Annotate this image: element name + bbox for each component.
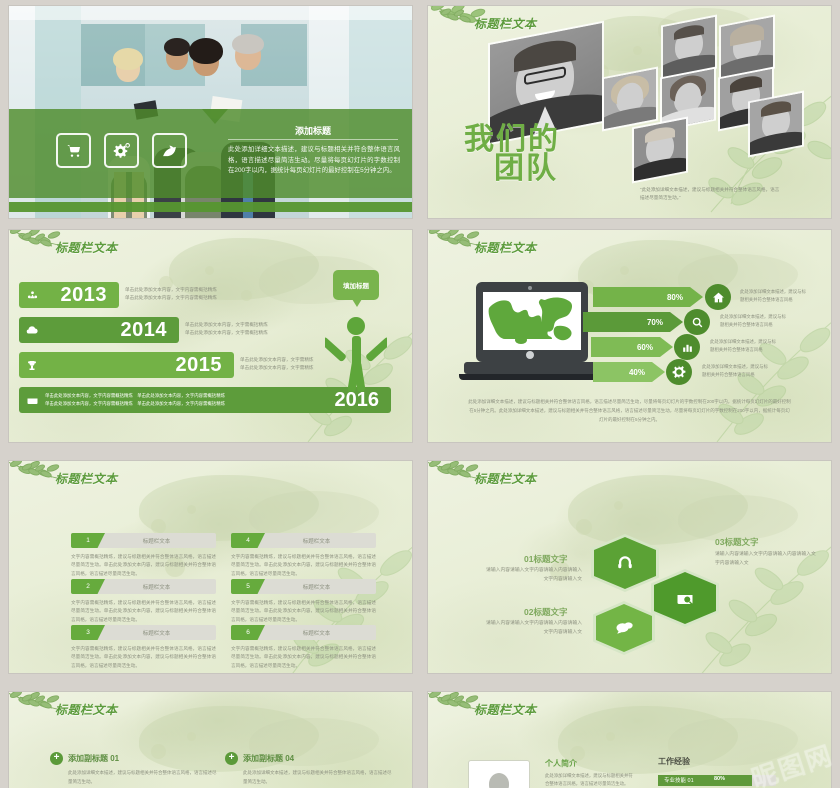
slide-header-title: 标题栏文本 bbox=[474, 239, 537, 256]
skill-label: 专业技能 01 bbox=[664, 776, 694, 784]
slide-profile[interactable]: 标题栏文本 个人简介 此处添加详细文本描述，建议与标题相关并符合整体语言风格，语… bbox=[428, 692, 831, 788]
timeline-row-2016[interactable]: 单击此处添加文本内容，文字内容需概括精炼 单击此处添加文本内容，文字内容需概括精… bbox=[19, 387, 391, 413]
bar-note-80: 此处添加详细文本描述，建议与标题相关并符合整体语言风格 bbox=[740, 288, 808, 304]
calendar-icon bbox=[19, 395, 45, 405]
cover-photo: 添加标题 此处添加详细文本描述，建议与标题相关并符合整体语言风格，语言描述尽量简… bbox=[9, 6, 412, 218]
card-title: 标题栏文本 bbox=[105, 583, 216, 591]
list-item[interactable]: 4 标题栏文本 文字内容需概括精炼，建议与标题相关并符合整体语言风格，语言描述尽… bbox=[231, 533, 376, 578]
subtitle-body: 此处添加详细文本描述，建议与标题相关并符合整体语言风格，语言描述尽量简洁生动。 bbox=[243, 769, 393, 786]
card-number: 4 bbox=[231, 533, 265, 548]
slide-header-title: 标题栏文本 bbox=[55, 701, 118, 718]
cover-band-notch bbox=[202, 109, 228, 124]
plus-icon: + bbox=[225, 752, 238, 765]
laptop-footer-text: 此处添加详细文本描述，建议与标题相关并符合整体语言风格，语言描述尽量简洁生动，尽… bbox=[468, 398, 791, 424]
slide-header-title: 标题栏文本 bbox=[474, 15, 537, 32]
timeline-note-2015: 单击此处添加文本内容，文字需精炼 单击此处添加文本内容，文字需精炼 bbox=[240, 356, 340, 373]
timeline-note-2013: 单击此处添加文本内容，文字内容需概括精炼 单击此处添加文本内容，文字内容需概括精… bbox=[125, 286, 250, 303]
hex-title-01: 01标题文字 bbox=[524, 553, 567, 565]
bar-note-40: 此处添加详细文本描述，建议与标题相关并符合整体语言风格 bbox=[702, 363, 770, 379]
slide-timeline[interactable]: 标题栏文本 2013 单击此处添加文本内容，文字内容需概括精炼 单击此处添加文本… bbox=[9, 230, 412, 442]
trophy-icon bbox=[19, 360, 45, 371]
slide-header-title: 标题栏文本 bbox=[55, 239, 118, 256]
subtitle-label: 添加副标题 04 bbox=[243, 753, 294, 764]
timeline-note-2014: 单击此处添加文本内容，文字需概括精炼 单击此处添加文本内容，文字需概括精炼 bbox=[185, 321, 300, 338]
list-item[interactable]: 6 标题栏文本 文字内容需概括精炼，建议与标题相关并符合整体语言风格，语言描述尽… bbox=[231, 625, 376, 670]
profile-heading: 个人简介 bbox=[545, 758, 577, 769]
profile-body: 此处添加详细文本描述，建议与标题相关并符合整体语言风格，语言描述尽量简洁生动。 bbox=[545, 772, 637, 788]
list-item[interactable]: 3 标题栏文本 文字内容需概括精炼，建议与标题相关并符合整体语言风格，语言描述尽… bbox=[71, 625, 216, 670]
card-body: 文字内容需概括精炼，建议与标题相关并符合整体语言风格，语言描述尽量简洁生动。单击… bbox=[71, 599, 216, 624]
slide-header-title: 标题栏文本 bbox=[474, 470, 537, 487]
timeline-row-2013[interactable]: 2013 bbox=[19, 282, 119, 308]
card-number: 3 bbox=[71, 625, 105, 640]
card-title: 标题栏文本 bbox=[265, 537, 376, 545]
list-item[interactable]: 2 标题栏文本 文字内容需概括精炼，建议与标题相关并符合整体语言风格，语言描述尽… bbox=[71, 579, 216, 624]
timeline-bubble[interactable]: 填加标题 bbox=[333, 270, 379, 300]
timeline-note-2016: 单击此处添加文本内容，文字内容需概括精炼 单击此处添加文本内容，文字内容需概括精… bbox=[45, 392, 299, 409]
hex-body-02: 请输入内容请输入文字内容请输入内容请输入文字内容请输入文 bbox=[486, 619, 582, 637]
bar-40[interactable]: 40% bbox=[593, 362, 665, 382]
team-photo-7[interactable] bbox=[634, 119, 686, 181]
slide-team[interactable]: 标题栏文本 bbox=[428, 6, 831, 218]
team-photo-3[interactable] bbox=[721, 17, 773, 77]
slide-header-title: 标题栏文本 bbox=[474, 701, 537, 718]
experience-heading: 工作经验 bbox=[658, 756, 690, 767]
bar-70[interactable]: 70% bbox=[583, 312, 683, 332]
chat-icon bbox=[615, 621, 633, 636]
bar-note-70: 此处添加详细文本描述，建议与标题相关并符合整体语言风格 bbox=[720, 313, 788, 329]
subtitle-row-01[interactable]: + 添加副标题 01 此处添加详细文本描述，建议与标题相关并符合整体语言风格，语… bbox=[50, 752, 218, 786]
browser-search-icon bbox=[676, 590, 694, 606]
timeline-bubble-label: 填加标题 bbox=[343, 280, 369, 290]
timeline-year: 2014 bbox=[45, 319, 179, 342]
chart-icon[interactable] bbox=[674, 334, 700, 360]
template-gallery: 添加标题 此处添加详细文本描述，建议与标题相关并符合整体语言风格，语言描述尽量简… bbox=[0, 0, 840, 788]
team-photo-5[interactable] bbox=[662, 69, 714, 129]
slide-laptop[interactable]: 标题栏文本 80% 70% 60% 40% bbox=[428, 230, 831, 442]
timeline-year: 2016 bbox=[299, 389, 391, 412]
slide-sixlist[interactable]: 标题栏文本 1 标题栏文本 文字内容需概括精炼，建议与标题相关并符合整体语言风格… bbox=[9, 461, 412, 673]
hex-body-01: 请输入内容请输入文字内容请输入内容请输入文字内容请输入文 bbox=[486, 566, 582, 584]
timeline-row-2015[interactable]: 2015 bbox=[19, 352, 234, 378]
bar-note-60: 此处添加详细文本描述，建议与标题相关并符合整体语言风格 bbox=[710, 338, 778, 354]
hex-title-03: 03标题文字 bbox=[715, 536, 758, 548]
people-icon bbox=[19, 290, 45, 301]
team-headline: 我们的 团队 bbox=[464, 126, 560, 183]
cover-title: 添加标题 bbox=[228, 124, 398, 137]
cover-bottom-bar bbox=[9, 202, 412, 212]
cover-title-rule bbox=[228, 139, 398, 140]
timeline-year: 2013 bbox=[45, 284, 119, 307]
bar-pct: 80% bbox=[667, 293, 683, 302]
team-photo-2[interactable] bbox=[663, 17, 715, 77]
slide-subtitles[interactable]: 标题栏文本 + 添加副标题 01 此处添加详细文本描述，建议与标题相关并符合整体… bbox=[9, 692, 412, 788]
team-photo-4[interactable] bbox=[604, 69, 656, 129]
skill-pct: 80% bbox=[714, 776, 725, 782]
team-note: “此处添加详细文本描述，建议与标题相关并符合整体语言风格，语言描述尽量简洁生动。… bbox=[640, 186, 780, 203]
bar-80[interactable]: 80% bbox=[593, 287, 703, 307]
subtitle-label: 添加副标题 01 bbox=[68, 753, 119, 764]
card-body: 文字内容需概括精炼，建议与标题相关并符合整体语言风格，语言描述尽量简洁生动。单击… bbox=[231, 553, 376, 578]
list-item[interactable]: 1 标题栏文本 文字内容需概括精炼，建议与标题相关并符合整体语言风格，语言描述尽… bbox=[71, 533, 216, 578]
bar-pct: 70% bbox=[647, 318, 663, 327]
bar-pct: 40% bbox=[629, 368, 645, 377]
cloud-icon bbox=[19, 325, 45, 335]
skill-bar: 专业技能 01 80% bbox=[658, 775, 776, 786]
team-photo-8[interactable] bbox=[750, 93, 802, 155]
timeline-year: 2015 bbox=[45, 354, 234, 377]
slide-hexagons[interactable]: 标题栏文本 01标题文字 请输入内容请输入文字内容请输入内容请输入文字内容请输入… bbox=[428, 461, 831, 673]
headset-icon bbox=[616, 554, 634, 572]
card-body: 文字内容需概括精炼，建议与标题相关并符合整体语言风格，语言描述尽量简洁生动。单击… bbox=[71, 553, 216, 578]
hex-title-02: 02标题文字 bbox=[524, 606, 567, 618]
card-number: 5 bbox=[231, 579, 265, 594]
card-number: 6 bbox=[231, 625, 265, 640]
bar-pct: 60% bbox=[637, 343, 653, 352]
avatar bbox=[468, 760, 530, 788]
card-title: 标题栏文本 bbox=[105, 537, 216, 545]
card-body: 文字内容需概括精炼，建议与标题相关并符合整体语言风格，语言描述尽量简洁生动。单击… bbox=[231, 645, 376, 670]
hex-body-03: 请输入内容请输入文字内容请输入内容请输入文字内容请输入文 bbox=[715, 550, 820, 568]
card-number: 2 bbox=[71, 579, 105, 594]
plus-icon: + bbox=[50, 752, 63, 765]
bar-60[interactable]: 60% bbox=[591, 337, 673, 357]
leaf-icon[interactable] bbox=[152, 133, 187, 168]
card-body: 文字内容需概括精炼，建议与标题相关并符合整体语言风格，语言描述尽量简洁生动。单击… bbox=[231, 599, 376, 624]
home-icon[interactable] bbox=[705, 284, 731, 310]
team-headline-line1: 我们的 bbox=[464, 126, 560, 155]
team-headline-line2: 团队 bbox=[494, 155, 560, 184]
card-title: 标题栏文本 bbox=[265, 583, 376, 591]
subtitle-row-04[interactable]: + 添加副标题 04 此处添加详细文本描述，建议与标题相关并符合整体语言风格，语… bbox=[225, 752, 393, 786]
cart-icon[interactable] bbox=[56, 133, 91, 168]
slide-header-title: 标题栏文本 bbox=[55, 470, 118, 487]
card-title: 标题栏文本 bbox=[265, 629, 376, 637]
gear-icon[interactable] bbox=[666, 359, 692, 385]
card-body: 文字内容需概括精炼，建议与标题相关并符合整体语言风格，语言描述尽量简洁生动。单击… bbox=[71, 645, 216, 670]
cover-body: 此处添加详细文本描述，建议与标题相关并符合整体语言风格，语言描述尽量简洁生动。尽… bbox=[228, 145, 400, 177]
timeline-row-2014[interactable]: 2014 bbox=[19, 317, 179, 343]
list-item[interactable]: 5 标题栏文本 文字内容需概括精炼，建议与标题相关并符合整体语言风格，语言描述尽… bbox=[231, 579, 376, 624]
card-title: 标题栏文本 bbox=[105, 629, 216, 637]
slide-cover[interactable]: 添加标题 此处添加详细文本描述，建议与标题相关并符合整体语言风格，语言描述尽量简… bbox=[9, 6, 412, 218]
subtitle-body: 此处添加详细文本描述，建议与标题相关并符合整体语言风格，语言描述尽量简洁生动。 bbox=[68, 769, 218, 786]
search-icon[interactable] bbox=[684, 309, 710, 335]
card-number: 1 bbox=[71, 533, 105, 548]
gear-icon[interactable] bbox=[104, 133, 139, 168]
